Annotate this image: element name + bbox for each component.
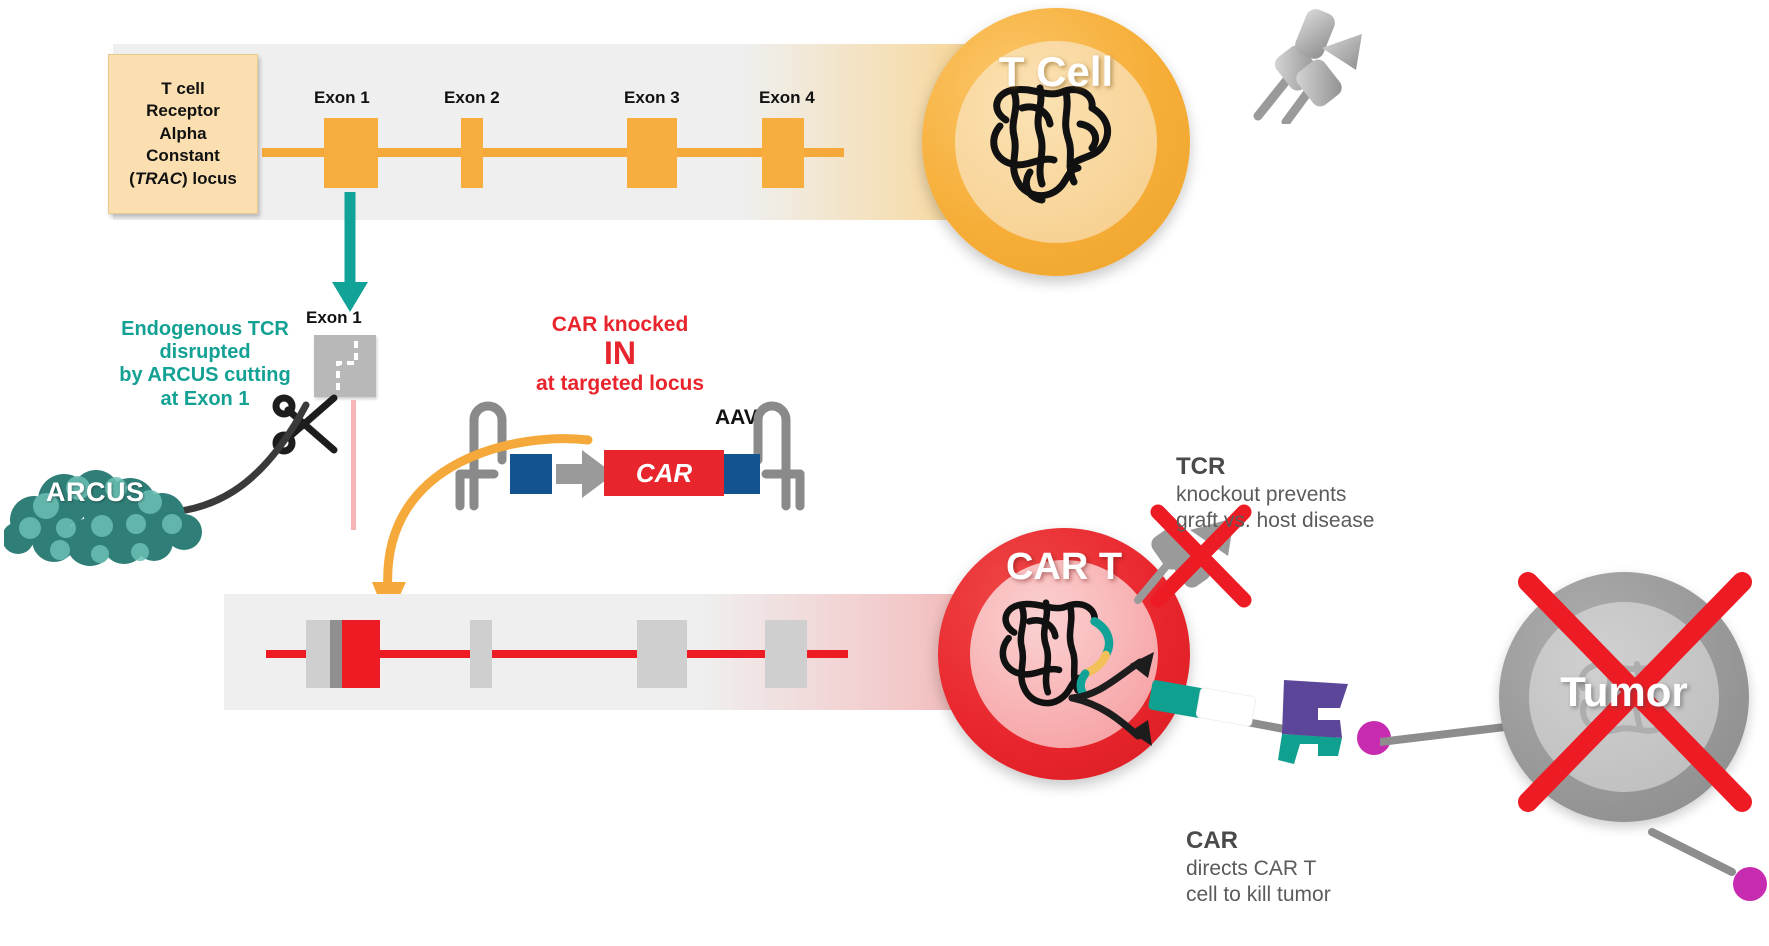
- trac-line-1: T cell: [161, 79, 204, 98]
- trac-line-2: Receptor: [146, 101, 220, 120]
- edited-exon-block-3: [637, 620, 687, 688]
- exon-label-1: Exon 1: [314, 88, 370, 108]
- car-scfv-upper: [1282, 680, 1348, 738]
- cut-dashed-path-icon: [314, 335, 376, 397]
- tcr-disruption-arrow: [322, 192, 378, 314]
- exon-block-3: [627, 118, 677, 188]
- diagram-canvas: T cell Receptor Alpha Constant (TRAC) lo…: [0, 0, 1769, 946]
- cut-site-drop-line: [351, 400, 356, 530]
- car-callout: CAR directs CAR T cell to kill tumor: [1186, 826, 1466, 909]
- car-knockin-line-3: at targeted locus: [490, 371, 750, 396]
- exon-label-4: Exon 4: [759, 88, 815, 108]
- car-knockin-line-1: CAR knocked: [490, 312, 750, 337]
- exon-block-4: [762, 118, 804, 188]
- cut-site-exon-block: [314, 335, 376, 397]
- arcus-protein-icon: [4, 458, 214, 568]
- exon-label-3: Exon 3: [624, 88, 680, 108]
- edited-exon-1-gray-insert: [330, 620, 342, 688]
- car-gene-text: CAR: [636, 458, 693, 488]
- car-scfv-lower: [1278, 734, 1342, 764]
- car-callout-line-2: cell to kill tumor: [1186, 882, 1466, 908]
- tcr-callout-line-2: graft vs. host disease: [1176, 508, 1476, 534]
- exon-block-2: [461, 118, 483, 188]
- exon-block-1: [324, 118, 378, 188]
- trac-line-3: Alpha: [159, 124, 206, 143]
- car-callout-line-1: directs CAR T: [1186, 856, 1466, 882]
- car-knockin-note: CAR knocked IN at targeted locus: [490, 312, 750, 396]
- tumor-label: Tumor: [1524, 668, 1724, 716]
- tcr-receptor-icon: [1238, 4, 1378, 124]
- teal-note-line-3: by ARCUS cutting: [60, 364, 350, 387]
- car-callout-heading: CAR: [1186, 826, 1466, 856]
- trac-gene-italic: TRAC: [135, 169, 182, 188]
- homology-arm-right: [720, 454, 760, 494]
- arcus-label: ARCUS: [46, 477, 145, 508]
- cut-site-exon-label: Exon 1: [306, 308, 362, 328]
- trac-locus-label-box: T cell Receptor Alpha Constant (TRAC) lo…: [108, 54, 258, 214]
- trac-paren-close: ) locus: [182, 169, 237, 188]
- teal-note-line-2: disrupted: [60, 341, 350, 364]
- edited-exon-block-2: [470, 620, 492, 688]
- aav-right-itr-icon: [758, 406, 800, 506]
- t-cell-label: T Cell: [952, 48, 1160, 96]
- antigen-secondary-link: [1648, 824, 1748, 894]
- edited-exon-1-car-insert: [342, 620, 380, 688]
- tcr-callout-line-1: knockout prevents: [1176, 482, 1476, 508]
- tcr-callout-heading: TCR: [1176, 452, 1476, 482]
- car-t-cell-label: CAR T: [968, 546, 1160, 589]
- tcr-knockout-callout: TCR knockout prevents graft vs. host dis…: [1176, 452, 1476, 535]
- exon-label-2: Exon 2: [444, 88, 500, 108]
- edited-exon-block-4: [765, 620, 807, 688]
- trac-line-4: Constant: [146, 146, 220, 165]
- car-knockin-line-2: IN: [490, 337, 750, 371]
